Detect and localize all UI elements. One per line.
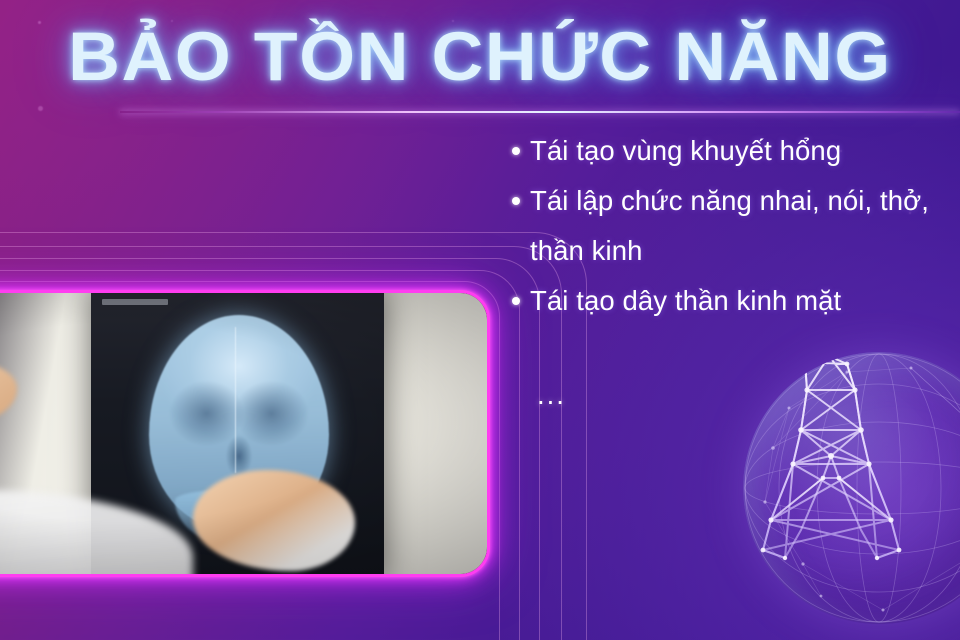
- list-item: Tái tạo vùng khuyết hổng: [512, 126, 952, 176]
- bullet-label: Tái lập chức năng nhai, nói, thở, thần k…: [530, 176, 952, 276]
- slide-canvas: BẢO TỒN CHỨC NĂNG Tái tạo vùng khuyết hổ…: [0, 0, 960, 640]
- title-block: BẢO TỒN CHỨC NĂNG: [0, 22, 960, 91]
- list-item: Tái lập chức năng nhai, nói, thở, thần k…: [512, 176, 952, 276]
- bullet-label: Tái tạo vùng khuyết hổng: [530, 126, 952, 176]
- bullet-dot-icon: [512, 197, 520, 205]
- page-title: BẢO TỒN CHỨC NĂNG: [68, 22, 892, 91]
- photo-vignette: [0, 293, 487, 574]
- bullet-label: Tái tạo dây thần kinh mặt: [530, 276, 952, 326]
- ribbon-icon: [743, 352, 919, 564]
- photo-frame: [0, 290, 490, 577]
- title-divider-line: [120, 111, 960, 113]
- bullet-list: Tái tạo vùng khuyết hổng Tái lập chức nă…: [512, 126, 952, 326]
- list-item: Tái tạo dây thần kinh mặt: [512, 276, 952, 326]
- xray-photo: [0, 293, 487, 574]
- bullet-dot-icon: [512, 147, 520, 155]
- bullet-dot-icon: [512, 297, 520, 305]
- wireframe-sphere: [743, 352, 960, 624]
- bullet-ellipsis: ...: [537, 372, 566, 418]
- speckle: [38, 106, 43, 111]
